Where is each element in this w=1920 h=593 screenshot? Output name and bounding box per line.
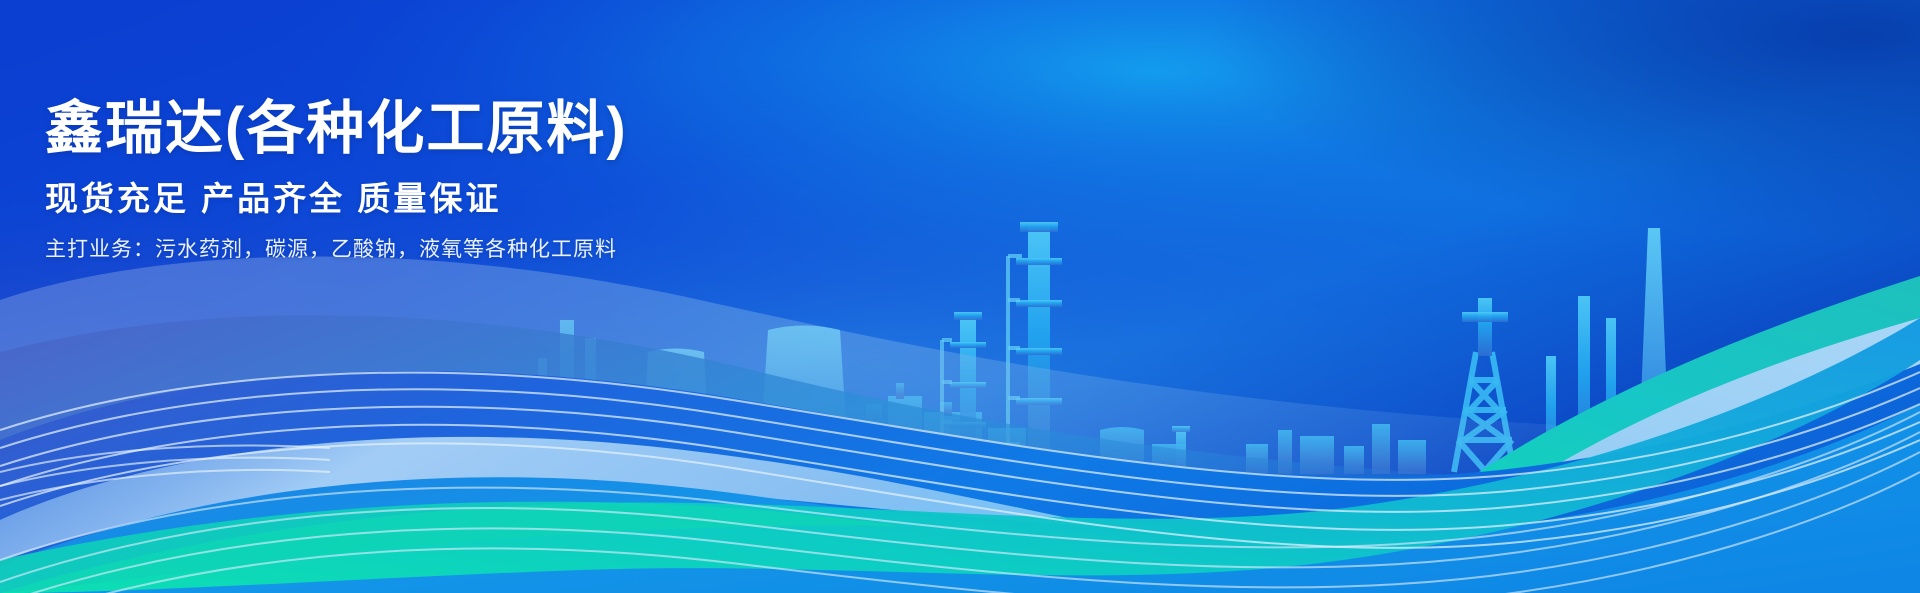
chemical-company-banner: 鑫瑞达(各种化工原料) 现货充足 产品齐全 质量保证 主打业务：污水药剂，碳源，…	[0, 0, 1920, 593]
banner-description: 主打业务：污水药剂，碳源，乙酸钠，液氧等各种化工原料	[45, 237, 945, 262]
banner-subtitle: 现货充足 产品齐全 质量保证	[45, 179, 945, 219]
banner-title: 鑫瑞达(各种化工原料)	[45, 95, 945, 163]
banner-copy: 鑫瑞达(各种化工原料) 现货充足 产品齐全 质量保证 主打业务：污水药剂，碳源，…	[45, 95, 945, 262]
flowing-ribbon-waves	[0, 0, 1920, 593]
